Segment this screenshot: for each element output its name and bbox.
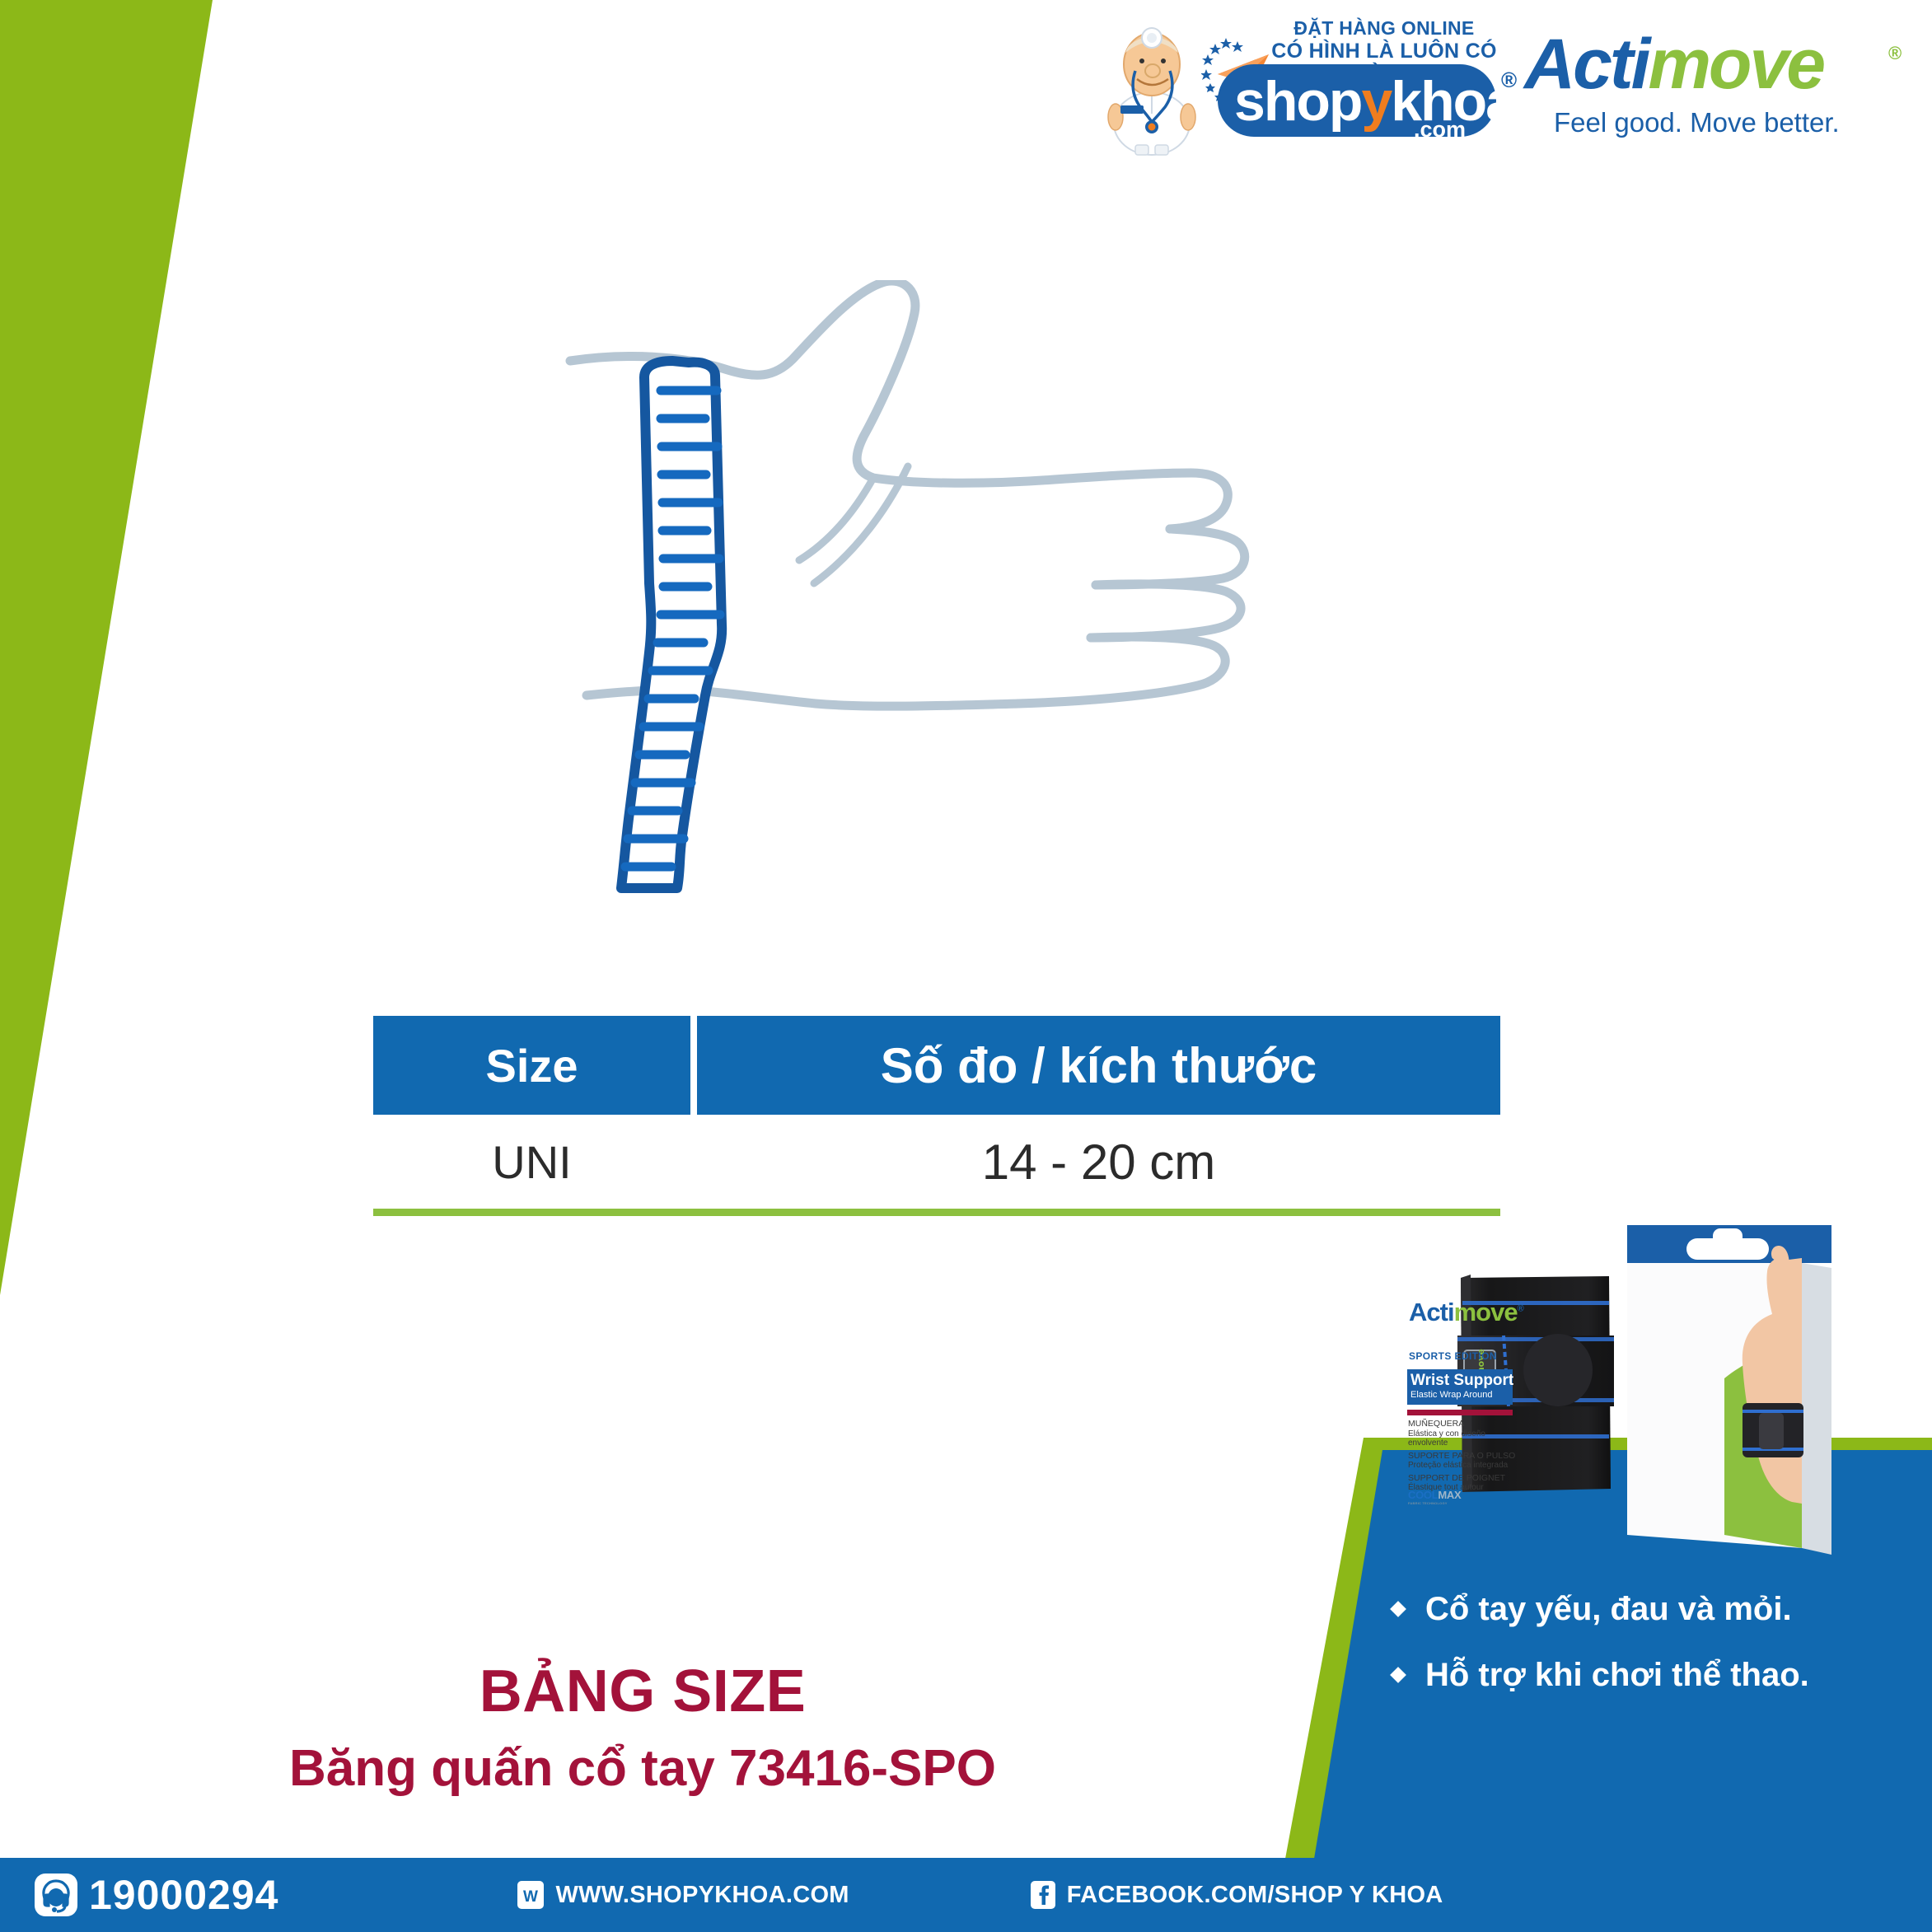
- box-desc-es: MUÑEQUERA Elástica y con diseño envolven…: [1408, 1420, 1520, 1448]
- list-item: Hỗ trợ khi chơi thể thao.: [1392, 1656, 1903, 1694]
- box-description-block: MUÑEQUERA Elástica y con diseño envolven…: [1408, 1420, 1520, 1496]
- box-desc-pt-heading: SUPORTE PARA O PULSO: [1408, 1452, 1520, 1462]
- footer-facebook-url: FACEBOOK.COM/SHOP Y KHOA: [1067, 1882, 1443, 1909]
- box-desc-pt: SUPORTE PARA O PULSO Proteção elástica i…: [1408, 1452, 1520, 1471]
- footer-website-url: WWW.SHOPYKHOA.COM: [555, 1882, 849, 1909]
- box-brand-move: move: [1454, 1298, 1518, 1326]
- box-edition-label: SPORTS EDITION: [1409, 1350, 1497, 1362]
- box-desc-es-body: Elástica y con diseño envolvente: [1408, 1429, 1520, 1448]
- box-desc-es-heading: MUÑEQUERA: [1408, 1420, 1520, 1429]
- title-product-name: Băng quấn cổ tay 73416-SPO: [0, 1733, 1285, 1804]
- doctor-mascot-icon: [1099, 25, 1205, 157]
- measurement-value: 14 - 20 cm: [697, 1115, 1500, 1209]
- measuring-tape-icon: [621, 361, 722, 888]
- shopykhoa-logo[interactable]: ĐẶT HÀNG ONLINE CÓ HÌNH LÀ LUÔN CÓ HÀNG …: [1096, 13, 1524, 157]
- box-desc-fr-heading: SUPPORT DE POIGNET: [1408, 1474, 1520, 1484]
- size-table-header-measurement: Số đo / kích thước: [697, 1016, 1500, 1115]
- size-table: Size Số đo / kích thước UNI 14 - 20 cm: [373, 1016, 1500, 1223]
- box-coolmax-logo: COOLMAX FABRIC TECHNOLOGY: [1408, 1489, 1461, 1505]
- footer-phone-number: 19000294: [89, 1871, 278, 1919]
- box-red-rule: [1407, 1410, 1513, 1415]
- benefit-bullet-list: Cổ tay yếu, đau và mỏi. Hỗ trợ khi chơi …: [1392, 1590, 1903, 1722]
- list-item: Cổ tay yếu, đau và mỏi.: [1392, 1590, 1903, 1628]
- size-table-header-size: Size: [373, 1016, 690, 1115]
- svg-text:W: W: [524, 1888, 539, 1906]
- size-table-header-divider: [690, 1016, 697, 1115]
- box-brand-acti: Acti: [1409, 1298, 1454, 1326]
- coolmax-cool: COOL: [1408, 1489, 1438, 1501]
- wordmark-shop: shop: [1234, 70, 1361, 133]
- bullet-text-1: Cổ tay yếu, đau và mỏi.: [1425, 1590, 1792, 1628]
- actimove-move: move: [1648, 25, 1823, 104]
- actimove-wordmark: Actimove: [1524, 25, 1823, 104]
- size-chart-infographic: ĐẶT HÀNG ONLINE CÓ HÌNH LÀ LUÔN CÓ HÀNG …: [0, 0, 1932, 1932]
- tagline-line-1: ĐẶT HÀNG ONLINE: [1252, 18, 1516, 40]
- left-green-wedge: [0, 0, 213, 1295]
- box-desc-pt-body: Proteção elástica integrada: [1408, 1461, 1520, 1471]
- box-brand-wordmark: Actimove®: [1409, 1298, 1523, 1327]
- box-brand-registered: ®: [1518, 1304, 1523, 1314]
- actimove-registered-mark: ®: [1888, 43, 1902, 64]
- hand-measurement-illustration: [527, 280, 1302, 931]
- coolmax-max: MAX: [1438, 1489, 1461, 1501]
- box-title-block: Wrist Support Elastic Wrap Around: [1407, 1369, 1513, 1405]
- headset-support-icon: [35, 1874, 77, 1916]
- size-row-divider: [690, 1115, 697, 1209]
- diamond-bullet-icon: [1390, 1601, 1406, 1617]
- actimove-logo[interactable]: Actimove ® Feel good. Move better.: [1524, 25, 1911, 148]
- table-row: UNI 14 - 20 cm: [373, 1115, 1500, 1209]
- size-table-header-row: Size Số đo / kích thước: [373, 1016, 1500, 1115]
- size-value-uni: UNI: [373, 1115, 690, 1209]
- facebook-icon: [1031, 1881, 1055, 1909]
- box-product-title: Wrist Support: [1410, 1373, 1509, 1389]
- product-box-image: [1627, 1225, 1831, 1555]
- shopykhoa-registered-mark: ®: [1501, 68, 1517, 93]
- wordmark-y: y: [1361, 70, 1391, 133]
- shopykhoa-dotcom: .com: [1414, 117, 1466, 143]
- footer-facebook[interactable]: FACEBOOK.COM/SHOP Y KHOA: [1031, 1881, 1443, 1909]
- product-photo-group: Actimove Actimo: [1401, 1225, 1829, 1579]
- footer-website[interactable]: W WWW.SHOPYKHOA.COM: [517, 1881, 849, 1909]
- size-table-underline: [373, 1209, 1500, 1216]
- title-bang-size: BẢNG SIZE: [0, 1656, 1285, 1727]
- box-product-subtitle: Elastic Wrap Around: [1410, 1389, 1509, 1401]
- header-logos: ĐẶT HÀNG ONLINE CÓ HÌNH LÀ LUÔN CÓ HÀNG …: [1096, 7, 1920, 163]
- actimove-acti: Acti: [1524, 25, 1648, 104]
- footer-bar: 19000294 W WWW.SHOPYKHOA.COM FACEBOOK.CO…: [0, 1858, 1932, 1932]
- coolmax-subtext: FABRIC TECHNOLOGY: [1408, 1501, 1461, 1505]
- actimove-tagline: Feel good. Move better.: [1554, 107, 1840, 138]
- diamond-bullet-icon: [1390, 1667, 1406, 1683]
- bullet-text-2: Hỗ trợ khi chơi thể thao.: [1425, 1656, 1809, 1694]
- www-globe-icon: W: [517, 1881, 544, 1909]
- footer-phone[interactable]: 19000294: [35, 1871, 278, 1919]
- page-title: BẢNG SIZE Băng quấn cổ tay 73416-SPO: [0, 1656, 1285, 1804]
